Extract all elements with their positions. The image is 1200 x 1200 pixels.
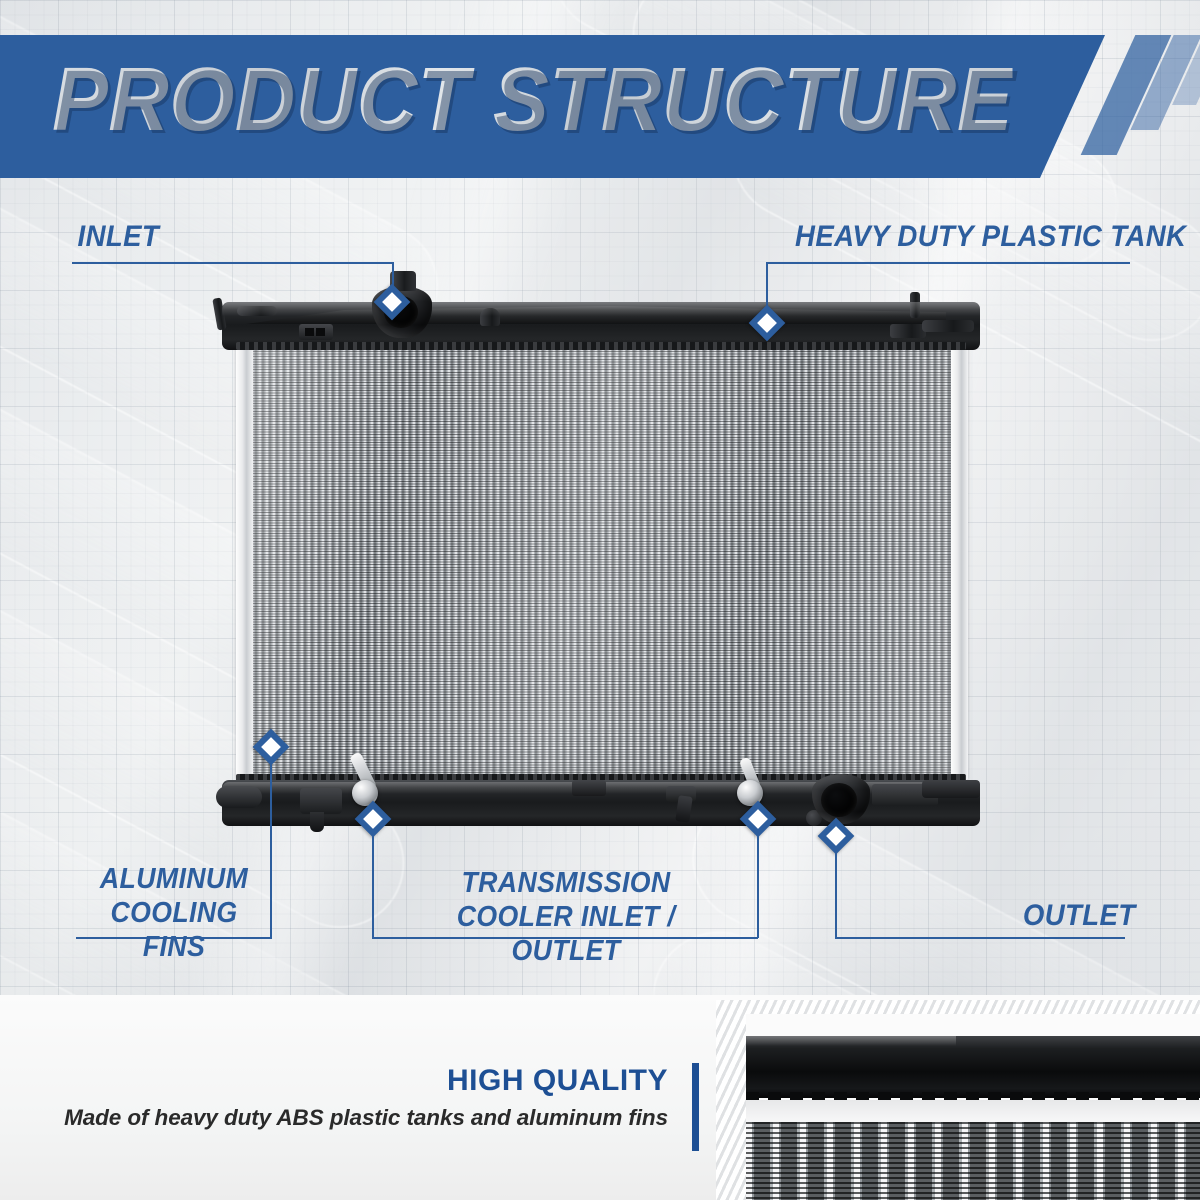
- top-crimp-tabs: [236, 342, 966, 350]
- high-quality-text-block: HIGH QUALITY Made of heavy duty ABS plas…: [0, 995, 686, 1200]
- leader-line-outlet-h: [835, 937, 1125, 939]
- detail-photo-closeup: [746, 1014, 1200, 1200]
- tank-nipple-e: [890, 324, 926, 338]
- side-rail-right: [951, 334, 968, 780]
- callout-label-aluminum-line1: ALUMINUM: [100, 863, 248, 895]
- callout-label-outlet: OUTLET: [1023, 898, 1136, 934]
- detail-header-plate: [746, 1100, 1200, 1122]
- tank-nipple-g: [910, 292, 920, 318]
- leader-line-fins-v: [270, 760, 272, 938]
- infographic-page: PRODUCT STRUCTURE: [0, 0, 1200, 1200]
- core-gloss: [238, 338, 964, 776]
- tank-nipple-f: [922, 320, 974, 332]
- callout-label-aluminum-line2: COOLING FINS: [110, 897, 237, 963]
- leader-line-trans-right-v: [757, 832, 759, 938]
- callout-label-heavy-duty-plastic-tank: HEAVY DUTY PLASTIC TANK: [795, 219, 1186, 255]
- tank-vent-port: [480, 308, 500, 326]
- detail-aluminum-fins: [746, 1122, 1200, 1200]
- callout-label-transmission-line1: TRANSMISSION: [462, 867, 671, 899]
- callout-label-aluminum-cooling-fins: ALUMINUM COOLING FINS: [86, 862, 263, 964]
- detail-plastic-tank: [746, 1036, 1200, 1098]
- callout-label-inlet: INLET: [78, 219, 160, 255]
- callout-label-transmission-line2: COOLER INLET / OUTLET: [457, 901, 676, 967]
- bottom-connector-pin: [310, 812, 324, 832]
- footer-divider: [692, 1063, 699, 1151]
- side-rail-left: [236, 334, 253, 780]
- leader-line-outlet-v: [835, 849, 837, 938]
- tank-connector-block: [299, 324, 333, 340]
- header-banner: PRODUCT STRUCTURE: [0, 35, 1200, 180]
- radiator-core-fins: [238, 338, 964, 776]
- footer-subtitle: Made of heavy duty ABS plastic tanks and…: [64, 1105, 668, 1131]
- footer-title: HIGH QUALITY: [447, 1064, 668, 1098]
- leader-line-trans-left-v: [372, 832, 374, 938]
- bottom-bracket-right-2: [922, 780, 980, 798]
- bottom-center-boss: [572, 780, 606, 796]
- leader-line-inlet-h: [72, 262, 394, 264]
- page-title: PRODUCT STRUCTURE: [52, 52, 1013, 148]
- leader-line-tank-h: [766, 262, 1130, 264]
- outlet-opening: [821, 783, 857, 817]
- detail-photo-frame: [716, 1000, 1200, 1200]
- tank-top-contour: [246, 306, 946, 324]
- radiator-product-image: [222, 288, 980, 836]
- callout-label-transmission-cooler: TRANSMISSION COOLER INLET / OUTLET: [432, 866, 701, 968]
- bottom-nipple-left: [216, 786, 262, 808]
- bottom-connector-block: [300, 788, 342, 814]
- tank-nipple-b: [237, 306, 277, 316]
